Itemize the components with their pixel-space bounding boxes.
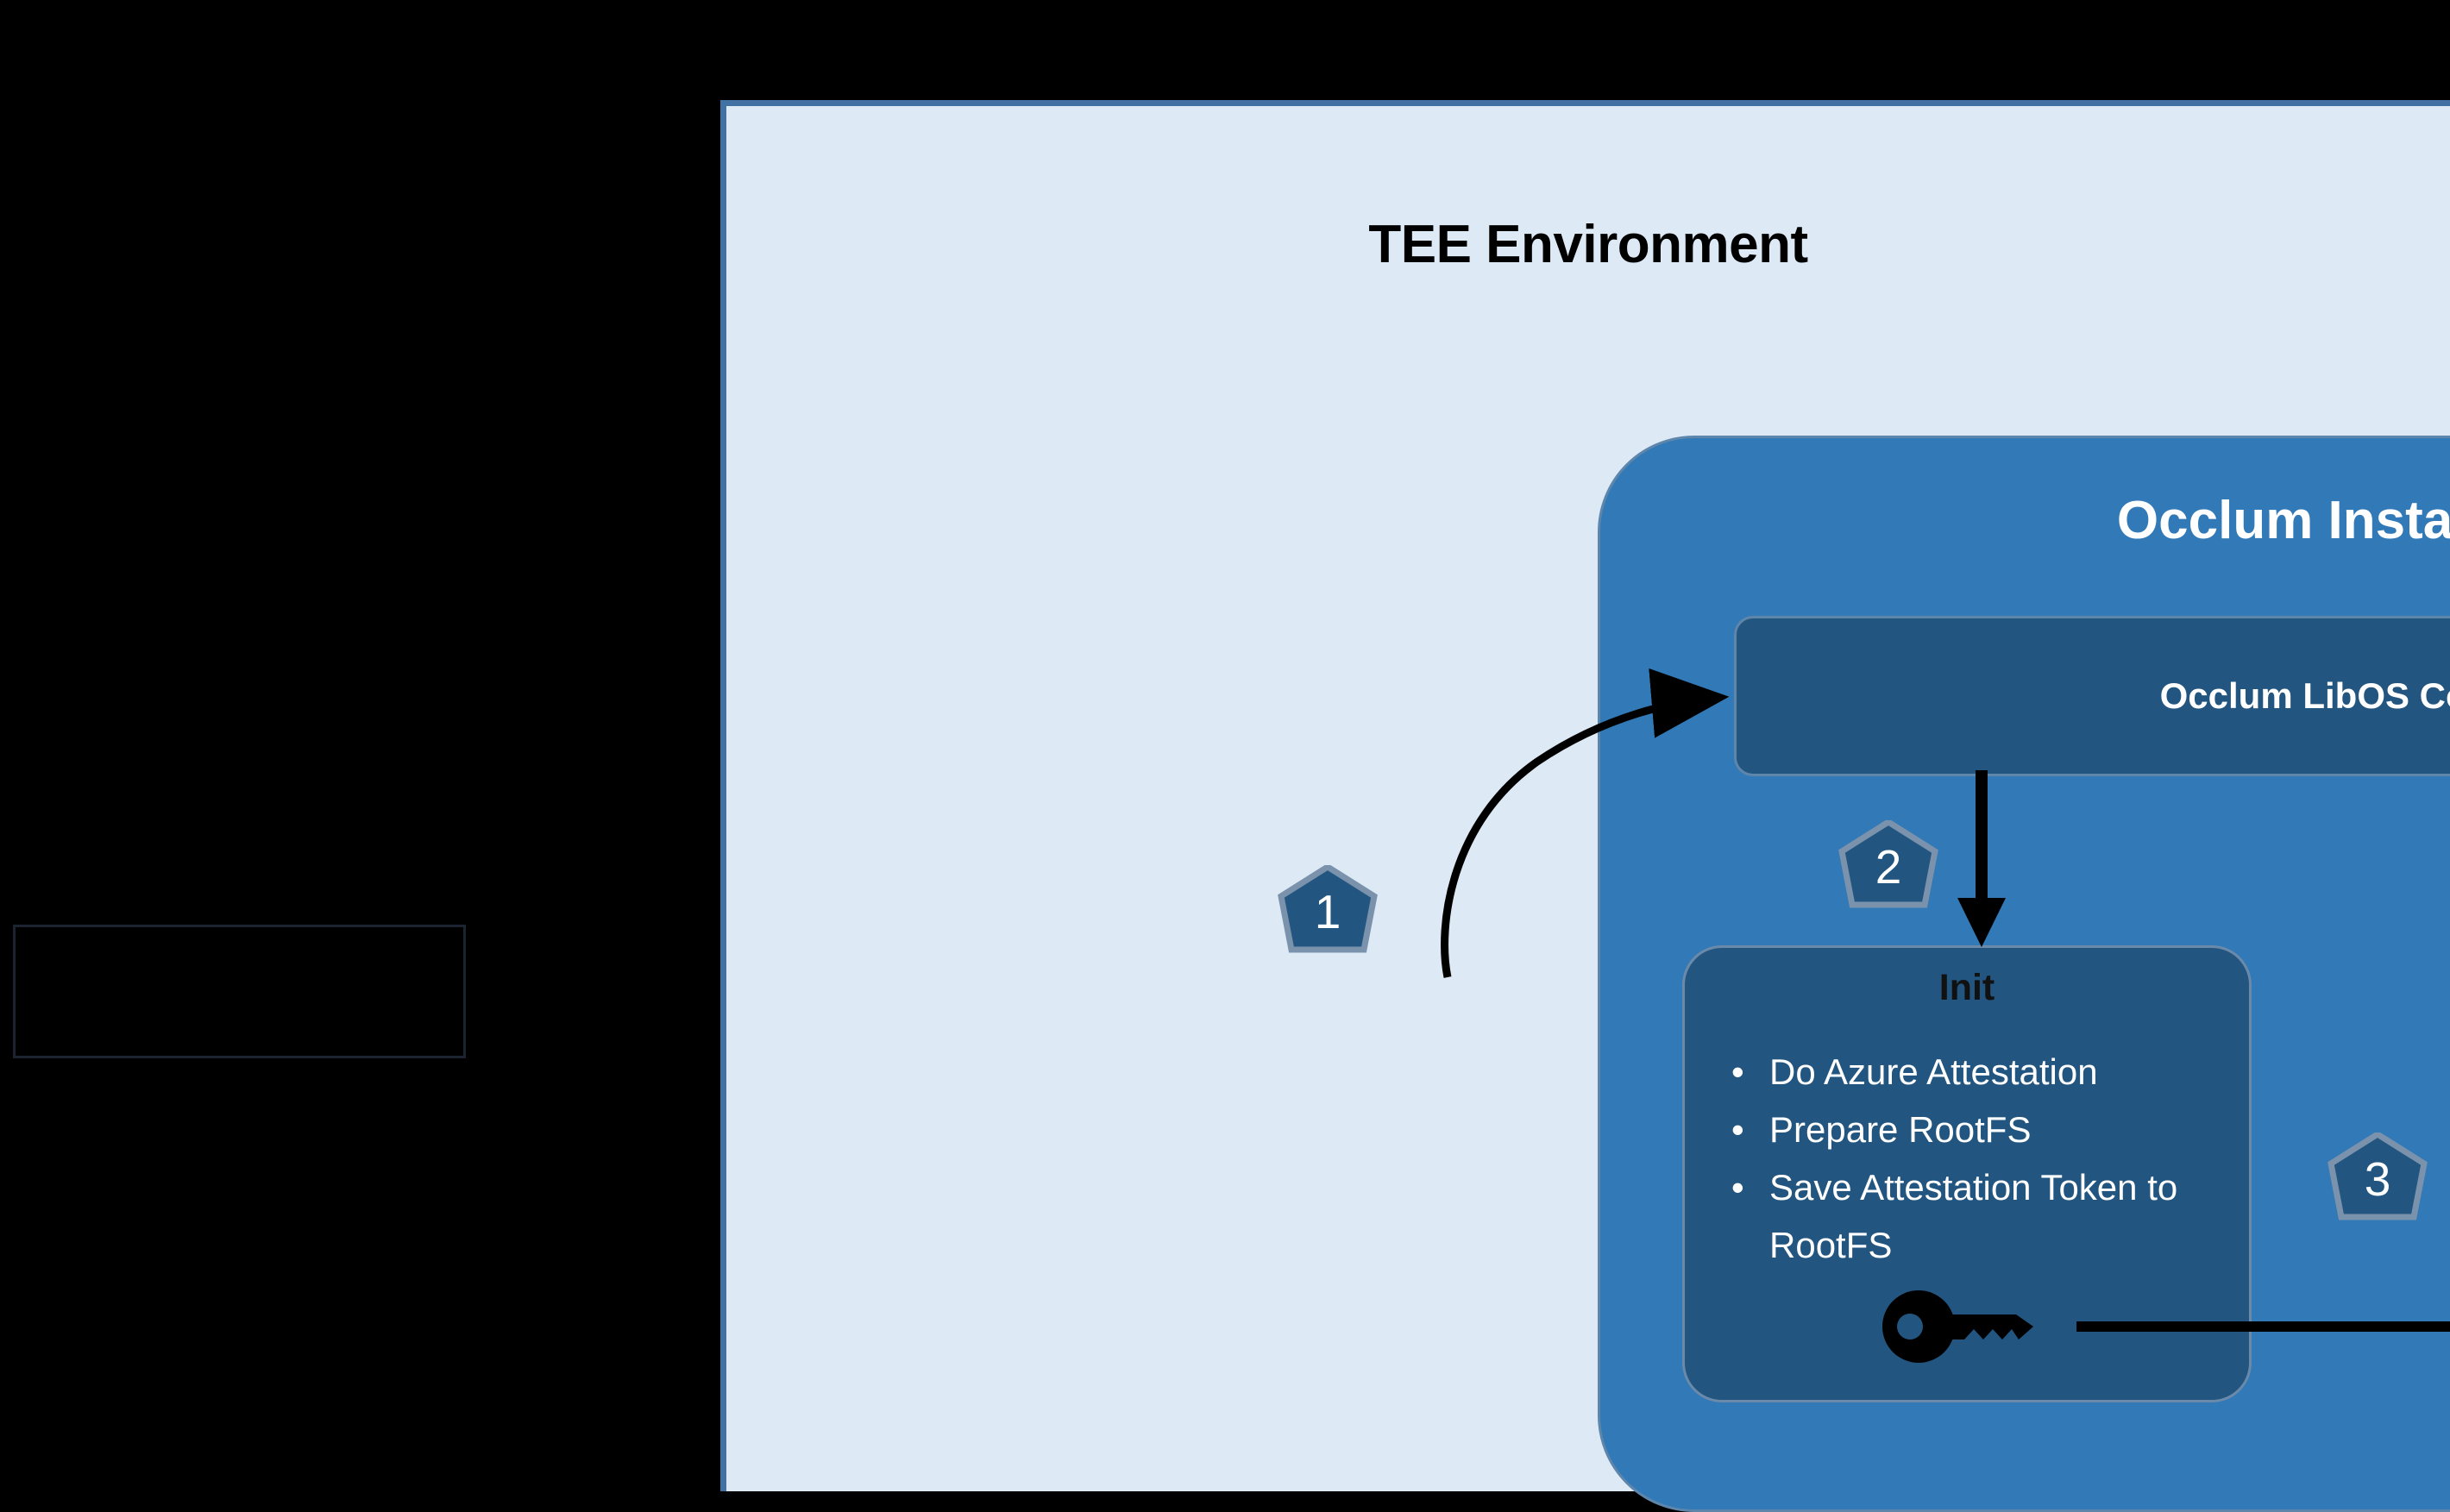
page-title: TEE Environment — [726, 214, 2450, 275]
arrow-init-key-to-rootfs-key — [2076, 1305, 2450, 1348]
arrow-libos-core-to-init — [1943, 770, 2038, 947]
occlum-libos-core-box: Occlum LibOS Core — [1734, 616, 2450, 776]
list-item-label: Prepare RootFS — [1769, 1109, 2031, 1150]
occlum-instance-title: Occlum Instance — [1600, 490, 2450, 551]
step-number: 3 — [2327, 1132, 2428, 1226]
occlum-libos-core-label: Occlum LibOS Core — [2160, 675, 2450, 717]
step-badge-1: 1 — [1277, 865, 1379, 958]
arrow-into-libos-core — [1417, 667, 1779, 977]
list-item: • Prepare RootFS — [1718, 1101, 2235, 1158]
bullet-glyph: • — [1731, 1158, 1744, 1216]
offscreen-box — [13, 925, 466, 1058]
list-item: • Do Azure Attestation — [1718, 1043, 2235, 1101]
list-item-label: Save Attestation Token to RootFS — [1769, 1167, 2177, 1265]
bullet-glyph: • — [1731, 1043, 1744, 1101]
step-badge-2: 2 — [1837, 820, 1939, 913]
list-item: • Save Attestation Token to RootFS — [1718, 1158, 2235, 1274]
tee-environment-panel: TEE Environment Occlum Instance Occlum L… — [720, 100, 2450, 1491]
key-icon — [1878, 1286, 2042, 1368]
bullet-glyph: • — [1731, 1101, 1744, 1158]
step-number: 2 — [1837, 820, 1939, 913]
step-badge-3: 3 — [2327, 1132, 2428, 1226]
list-item-label: Do Azure Attestation — [1769, 1051, 2098, 1092]
step-number: 1 — [1277, 865, 1379, 958]
init-bullet-list: • Do Azure Attestation • Prepare RootFS … — [1718, 1043, 2235, 1274]
